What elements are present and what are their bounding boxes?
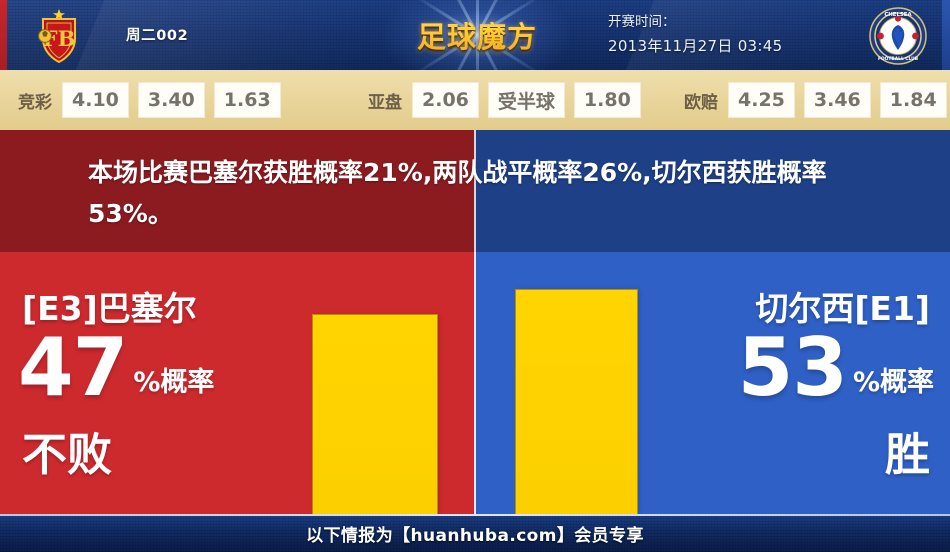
odds-group-label-yapan: 亚盘 <box>368 88 402 113</box>
svg-text:FOOTBALL CLUB: FOOTBALL CLUB <box>878 56 919 62</box>
away-percent-row: 53 %概率 <box>738 330 934 406</box>
odds-cell-jingcai-away[interactable]: 1.63 <box>214 82 281 118</box>
away-probability-bar <box>515 289 638 514</box>
home-verdict-label: 不败 <box>22 432 112 477</box>
svg-text:CHELSEA: CHELSEA <box>884 12 912 18</box>
odds-cell-oupei-home[interactable]: 4.25 <box>728 82 795 118</box>
odds-cell-jingcai-draw[interactable]: 3.40 <box>138 82 205 118</box>
away-percent-suffix: %概率 <box>847 369 934 406</box>
brand-logo-text: 足球魔方 <box>392 0 562 70</box>
odds-group-label-jingcai: 竞彩 <box>18 88 52 113</box>
header-right-blue-edge <box>942 0 950 70</box>
basel-crest-icon: FB <box>30 7 88 65</box>
home-percent-suffix: %概率 <box>127 369 214 406</box>
odds-cell-oupei-away[interactable]: 1.84 <box>880 82 947 118</box>
away-verdict-label: 胜 <box>885 432 930 477</box>
chelsea-crest-icon: CHELSEA FOOTBALL CLUB <box>868 6 928 66</box>
odds-group-jingcai: 竞彩 4.10 3.40 1.63 <box>18 82 290 118</box>
footer-membership-text: 以下情报为【huanhuba.com】会员专享 <box>0 514 950 552</box>
home-percent-row: 47 %概率 <box>18 330 214 406</box>
odds-bar: 竞彩 4.10 3.40 1.63 亚盘 2.06 受半球 1.80 欧赔 4.… <box>0 70 950 130</box>
match-number: 周二002 <box>126 24 188 45</box>
odds-group-oupei: 欧赔 4.25 3.46 1.84 <box>684 82 950 118</box>
home-probability-bar <box>312 314 438 514</box>
panel-center-divider <box>474 252 476 514</box>
odds-group-label-oupei: 欧赔 <box>684 88 718 113</box>
odds-cell-yapan-home[interactable]: 2.06 <box>412 82 479 118</box>
brand-logo: 足球魔方 <box>392 0 562 70</box>
header-diagonal-sheen-left <box>76 0 364 70</box>
home-percent-number: 47 <box>18 330 127 406</box>
odds-cell-yapan-away[interactable]: 1.80 <box>574 82 641 118</box>
odds-cell-jingcai-home[interactable]: 4.10 <box>62 82 129 118</box>
odds-cell-yapan-handicap[interactable]: 受半球 <box>488 82 565 118</box>
probability-summary-text: 本场比赛巴塞尔获胜概率21%,两队战平概率26%,切尔西获胜概率53%。 <box>88 152 878 234</box>
probability-summary-banner: 本场比赛巴塞尔获胜概率21%,两队战平概率26%,切尔西获胜概率53%。 <box>0 130 950 252</box>
footer-bar: 以下情报为【huanhuba.com】会员专享 <box>0 514 950 552</box>
header-left-red-edge <box>0 0 7 70</box>
match-prediction-screen: FB 周二002 足球魔方 开赛时间： 2013年11月27日 03:45 <box>0 0 950 552</box>
odds-group-yapan: 亚盘 2.06 受半球 1.80 <box>368 82 650 118</box>
odds-cell-oupei-draw[interactable]: 3.46 <box>804 82 871 118</box>
kickoff-label: 开赛时间： <box>608 10 838 34</box>
kickoff-value: 2013年11月27日 03:45 <box>608 34 838 58</box>
header-bar: FB 周二002 足球魔方 开赛时间： 2013年11月27日 03:45 <box>0 0 950 70</box>
prediction-chart-area: [E3]巴塞尔 47 %概率 不败 切尔西[E1] 53 %概率 胜 <box>0 252 950 514</box>
kickoff-time-block: 开赛时间： 2013年11月27日 03:45 <box>608 10 838 58</box>
away-percent-number: 53 <box>738 330 847 406</box>
